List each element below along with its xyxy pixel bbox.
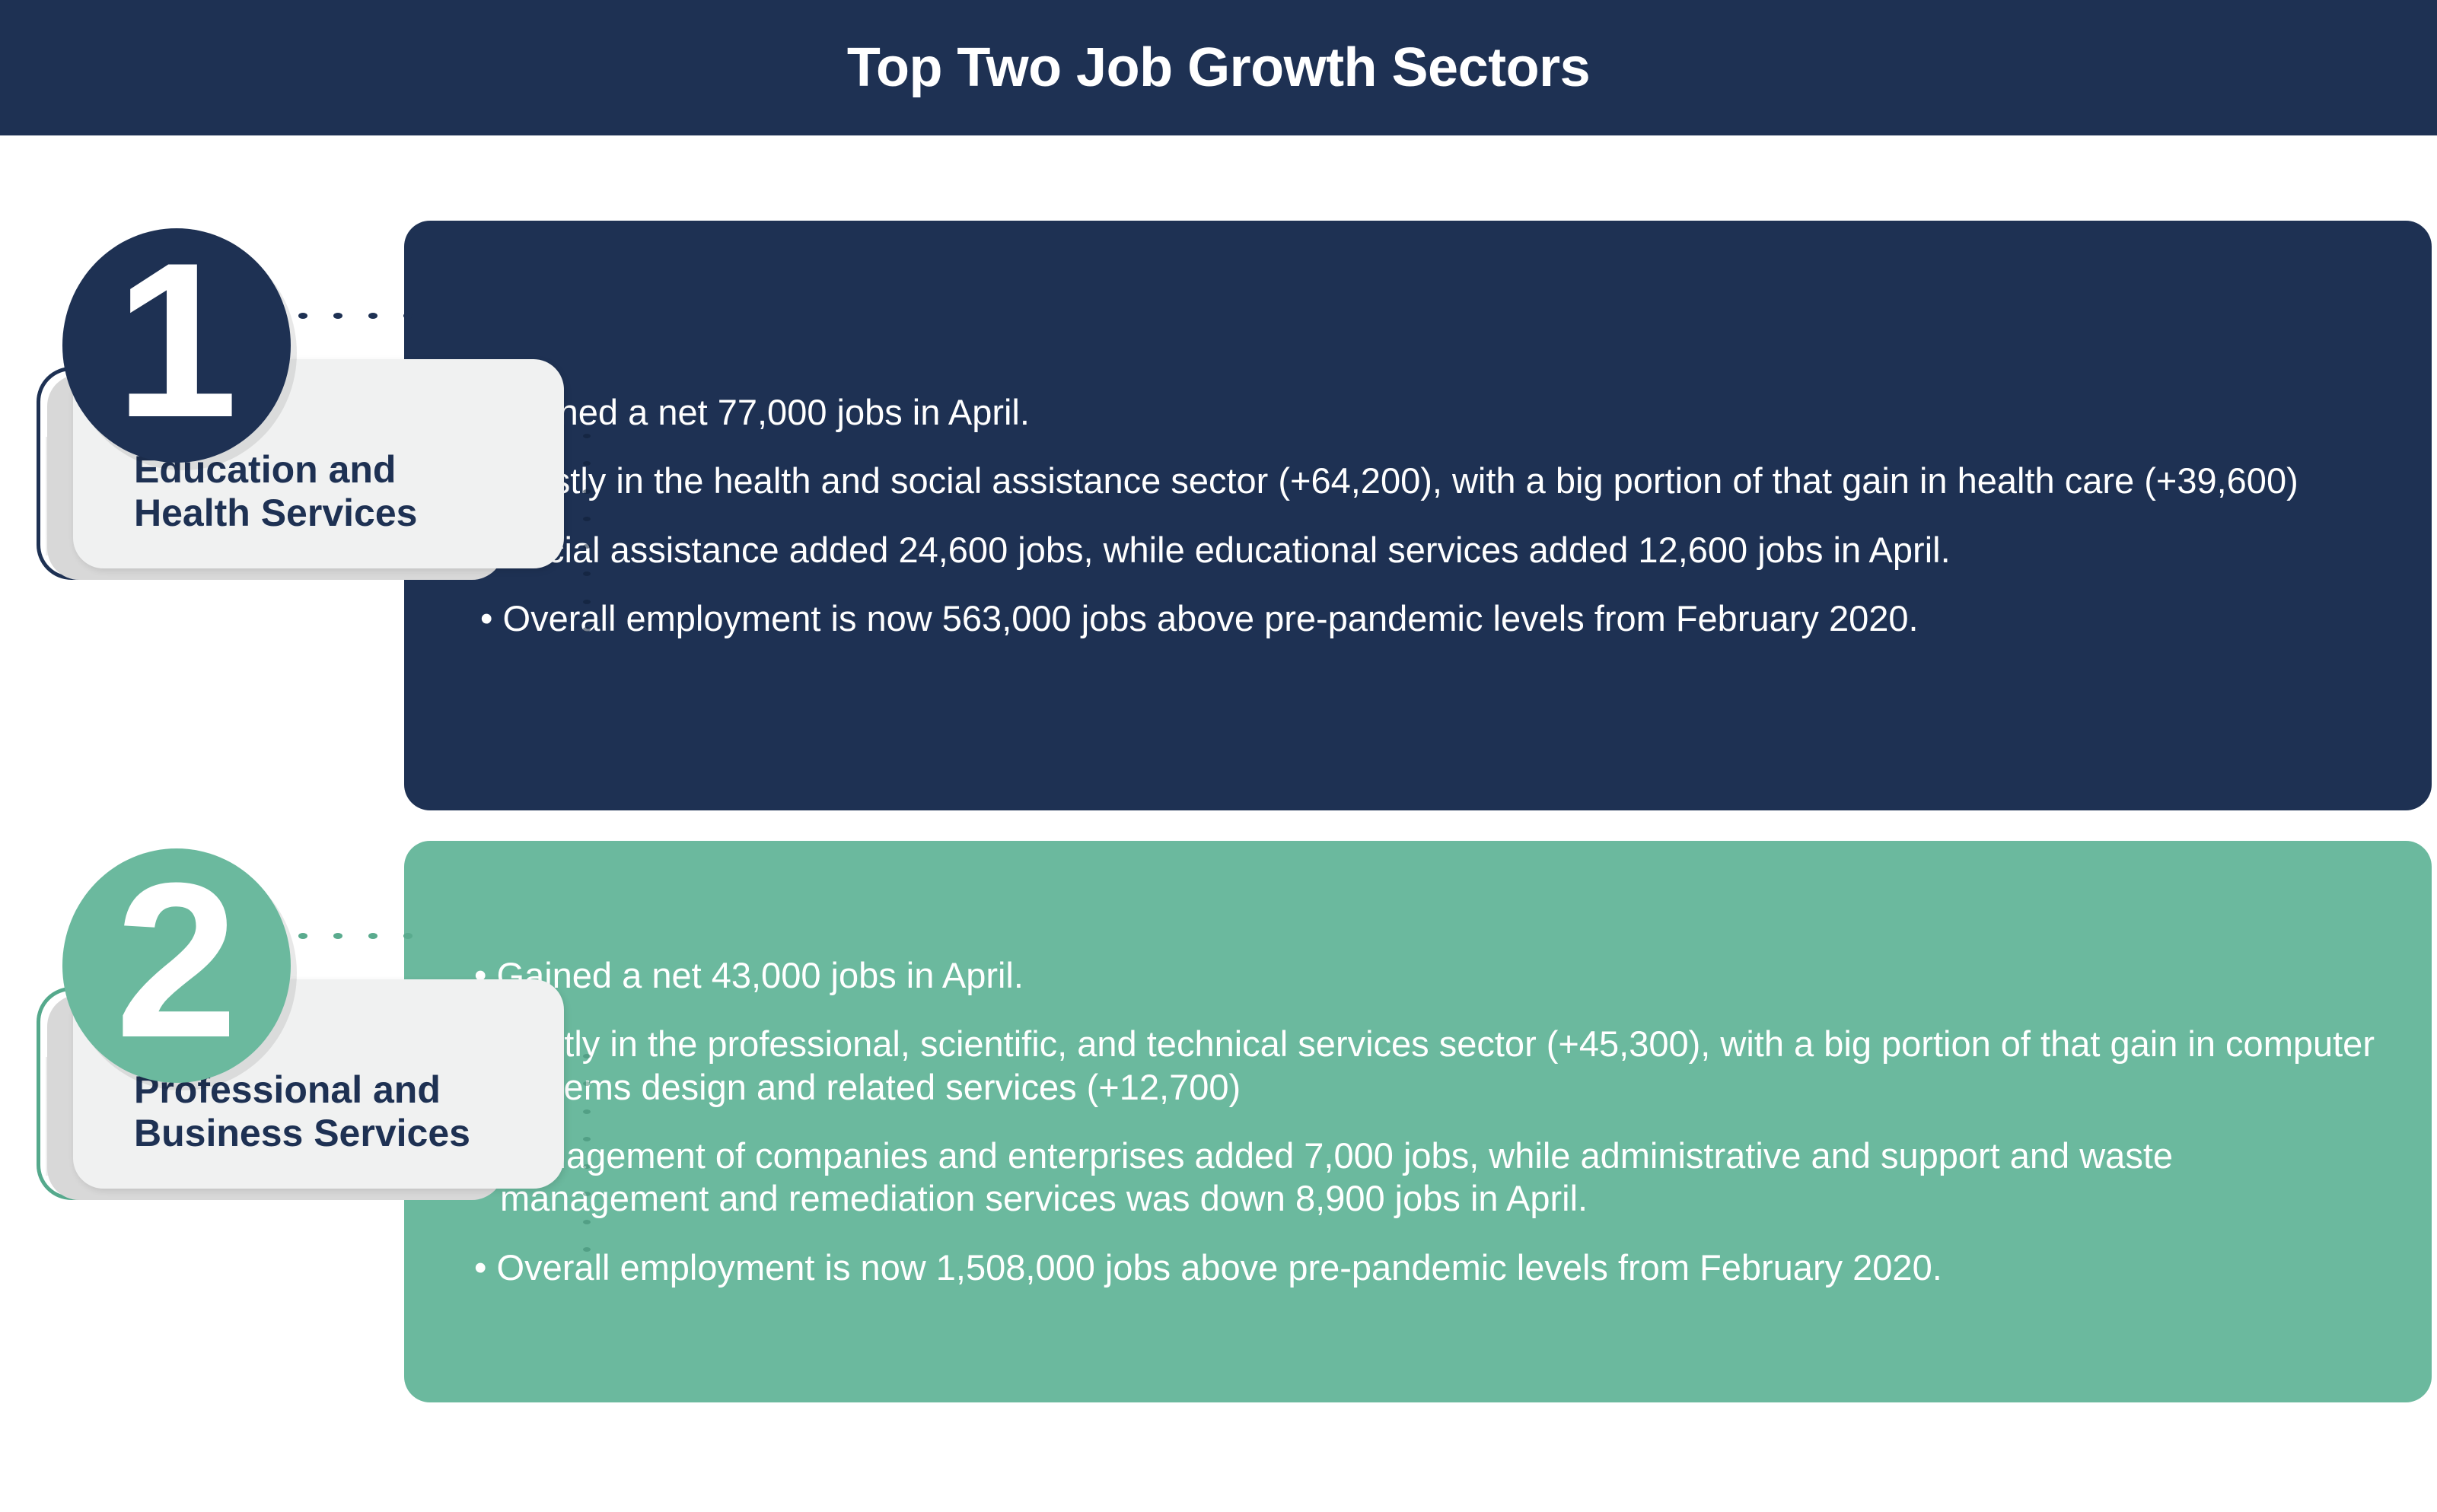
section-2-rank-badge: 2: [62, 848, 291, 1083]
vertical-dotted-rule: [583, 1054, 591, 1252]
vertical-dotted-rule: [583, 434, 591, 632]
badge-connector-dots: [298, 931, 413, 941]
section-1-rank-badge: 1: [62, 228, 291, 463]
list-item: • Mostly in the professional, scientific…: [474, 1023, 2378, 1109]
badge-connector-dots: [298, 311, 413, 320]
section-2-content-panel: • Gained a net 43,000 jobs in April. • M…: [404, 841, 2432, 1402]
list-item: • Gained a net 77,000 jobs in April.: [480, 391, 2378, 434]
list-item: • Gained a net 43,000 jobs in April.: [474, 954, 2378, 997]
list-item: • Social assistance added 24,600 jobs, w…: [480, 529, 2378, 571]
list-item: • Overall employment is now 1,508,000 jo…: [474, 1246, 2378, 1289]
section-2-rank-number: 2: [115, 868, 237, 1054]
section-2-label-group: Professional and Business Services 2: [0, 826, 601, 1297]
section-1-label-group: Education and Health Services 1: [0, 205, 601, 662]
section-1-bullet-list: • Gained a net 77,000 jobs in April. • M…: [474, 391, 2378, 641]
page-title: Top Two Job Growth Sectors: [847, 37, 1590, 99]
section-2-bullet-list: • Gained a net 43,000 jobs in April. • M…: [474, 954, 2378, 1289]
list-item: • Mostly in the health and social assist…: [480, 460, 2378, 502]
section-1-rank-number: 1: [115, 248, 237, 434]
section-1-content-panel: • Gained a net 77,000 jobs in April. • M…: [404, 221, 2432, 810]
list-item: • Management of companies and enterprise…: [474, 1135, 2378, 1221]
infographic-canvas: Top Two Job Growth Sectors • Gained a ne…: [0, 0, 2437, 1512]
list-item: • Overall employment is now 563,000 jobs…: [480, 597, 2378, 640]
header-banner: Top Two Job Growth Sectors: [0, 0, 2437, 135]
